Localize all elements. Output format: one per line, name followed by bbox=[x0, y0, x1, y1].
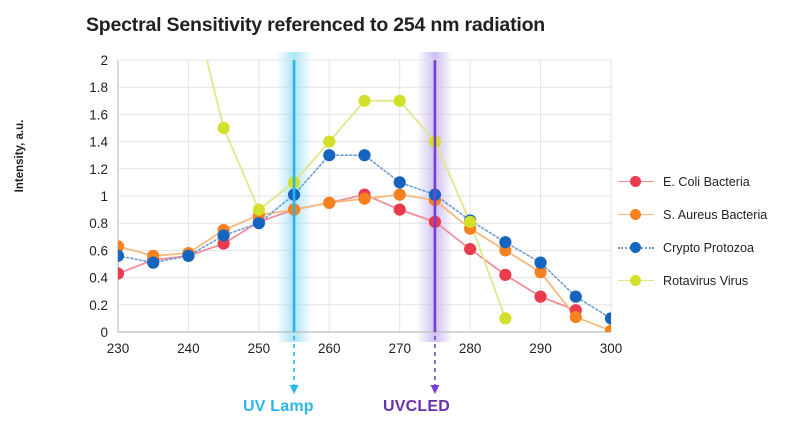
legend-swatch-saureus bbox=[618, 208, 654, 222]
y-tick-label: 0.8 bbox=[89, 216, 108, 231]
x-tick-label: 260 bbox=[318, 341, 341, 356]
annotation-arrow-uv-lamp bbox=[290, 385, 299, 394]
data-point bbox=[253, 217, 265, 229]
legend-item-ecoli[interactable]: E. Coli Bacteria bbox=[618, 165, 791, 198]
data-point bbox=[182, 250, 194, 262]
x-tick-label: 290 bbox=[529, 341, 552, 356]
data-point bbox=[394, 204, 406, 216]
y-tick-label: 1.4 bbox=[89, 135, 108, 150]
data-point bbox=[147, 257, 159, 269]
legend-label-saureus: S. Aureus Bacteria bbox=[663, 208, 767, 222]
y-tick-label: 0.2 bbox=[89, 298, 108, 313]
x-tick-label: 250 bbox=[248, 341, 271, 356]
y-tick-label: 1.2 bbox=[89, 162, 108, 177]
data-point bbox=[218, 229, 230, 241]
y-tick-label: 0.4 bbox=[89, 271, 108, 286]
data-point bbox=[323, 136, 335, 148]
y-tick-label: 0 bbox=[100, 325, 108, 340]
x-tick-label: 280 bbox=[459, 341, 482, 356]
data-point bbox=[394, 176, 406, 188]
legend-label-rotavirus: Rotavirus Virus bbox=[663, 274, 748, 288]
x-tick-label: 240 bbox=[177, 341, 200, 356]
data-point bbox=[253, 204, 265, 216]
uv-lamp-annotation-label: UV Lamp bbox=[243, 398, 314, 416]
data-point bbox=[394, 189, 406, 201]
data-point bbox=[323, 149, 335, 161]
legend-label-crypto: Crypto Protozoa bbox=[663, 241, 754, 255]
legend-item-saureus[interactable]: S. Aureus Bacteria bbox=[618, 198, 791, 231]
data-point bbox=[570, 311, 582, 323]
data-point bbox=[605, 312, 617, 324]
y-tick-label: 1.6 bbox=[89, 107, 108, 122]
data-point bbox=[605, 325, 617, 337]
y-tick-label: 2 bbox=[100, 53, 108, 68]
annotation-arrow-uvcled bbox=[430, 385, 439, 394]
data-point bbox=[534, 257, 546, 269]
data-point bbox=[464, 243, 476, 255]
legend-item-crypto[interactable]: Crypto Protozoa bbox=[618, 231, 791, 264]
chart-root: Spectral Sensitivity referenced to 254 n… bbox=[0, 0, 791, 439]
data-point bbox=[358, 149, 370, 161]
uvcled-annotation-label: UVCLED bbox=[383, 398, 450, 416]
y-tick-label: 1 bbox=[100, 189, 108, 204]
legend-item-rotavirus[interactable]: Rotavirus Virus bbox=[618, 264, 791, 297]
legend-swatch-rotavirus bbox=[618, 274, 654, 288]
data-point bbox=[534, 291, 546, 303]
x-tick-label: 270 bbox=[388, 341, 411, 356]
x-tick-label: 300 bbox=[600, 341, 623, 356]
chart-legend: E. Coli Bacteria S. Aureus Bacteria Cryp… bbox=[618, 165, 791, 297]
data-point bbox=[358, 193, 370, 205]
data-point bbox=[499, 236, 511, 248]
data-point bbox=[358, 95, 370, 107]
data-point bbox=[323, 197, 335, 209]
data-point bbox=[499, 312, 511, 324]
data-point bbox=[112, 250, 124, 262]
data-point bbox=[112, 267, 124, 279]
x-tick-label: 230 bbox=[107, 341, 130, 356]
y-tick-label: 0.6 bbox=[89, 243, 108, 258]
data-point bbox=[464, 216, 476, 228]
legend-label-ecoli: E. Coli Bacteria bbox=[663, 175, 750, 189]
legend-swatch-crypto bbox=[618, 241, 654, 255]
data-point bbox=[394, 95, 406, 107]
data-point bbox=[570, 291, 582, 303]
data-point bbox=[499, 269, 511, 281]
y-tick-label: 1.8 bbox=[89, 80, 108, 95]
data-point bbox=[218, 122, 230, 134]
legend-swatch-ecoli bbox=[618, 175, 654, 189]
